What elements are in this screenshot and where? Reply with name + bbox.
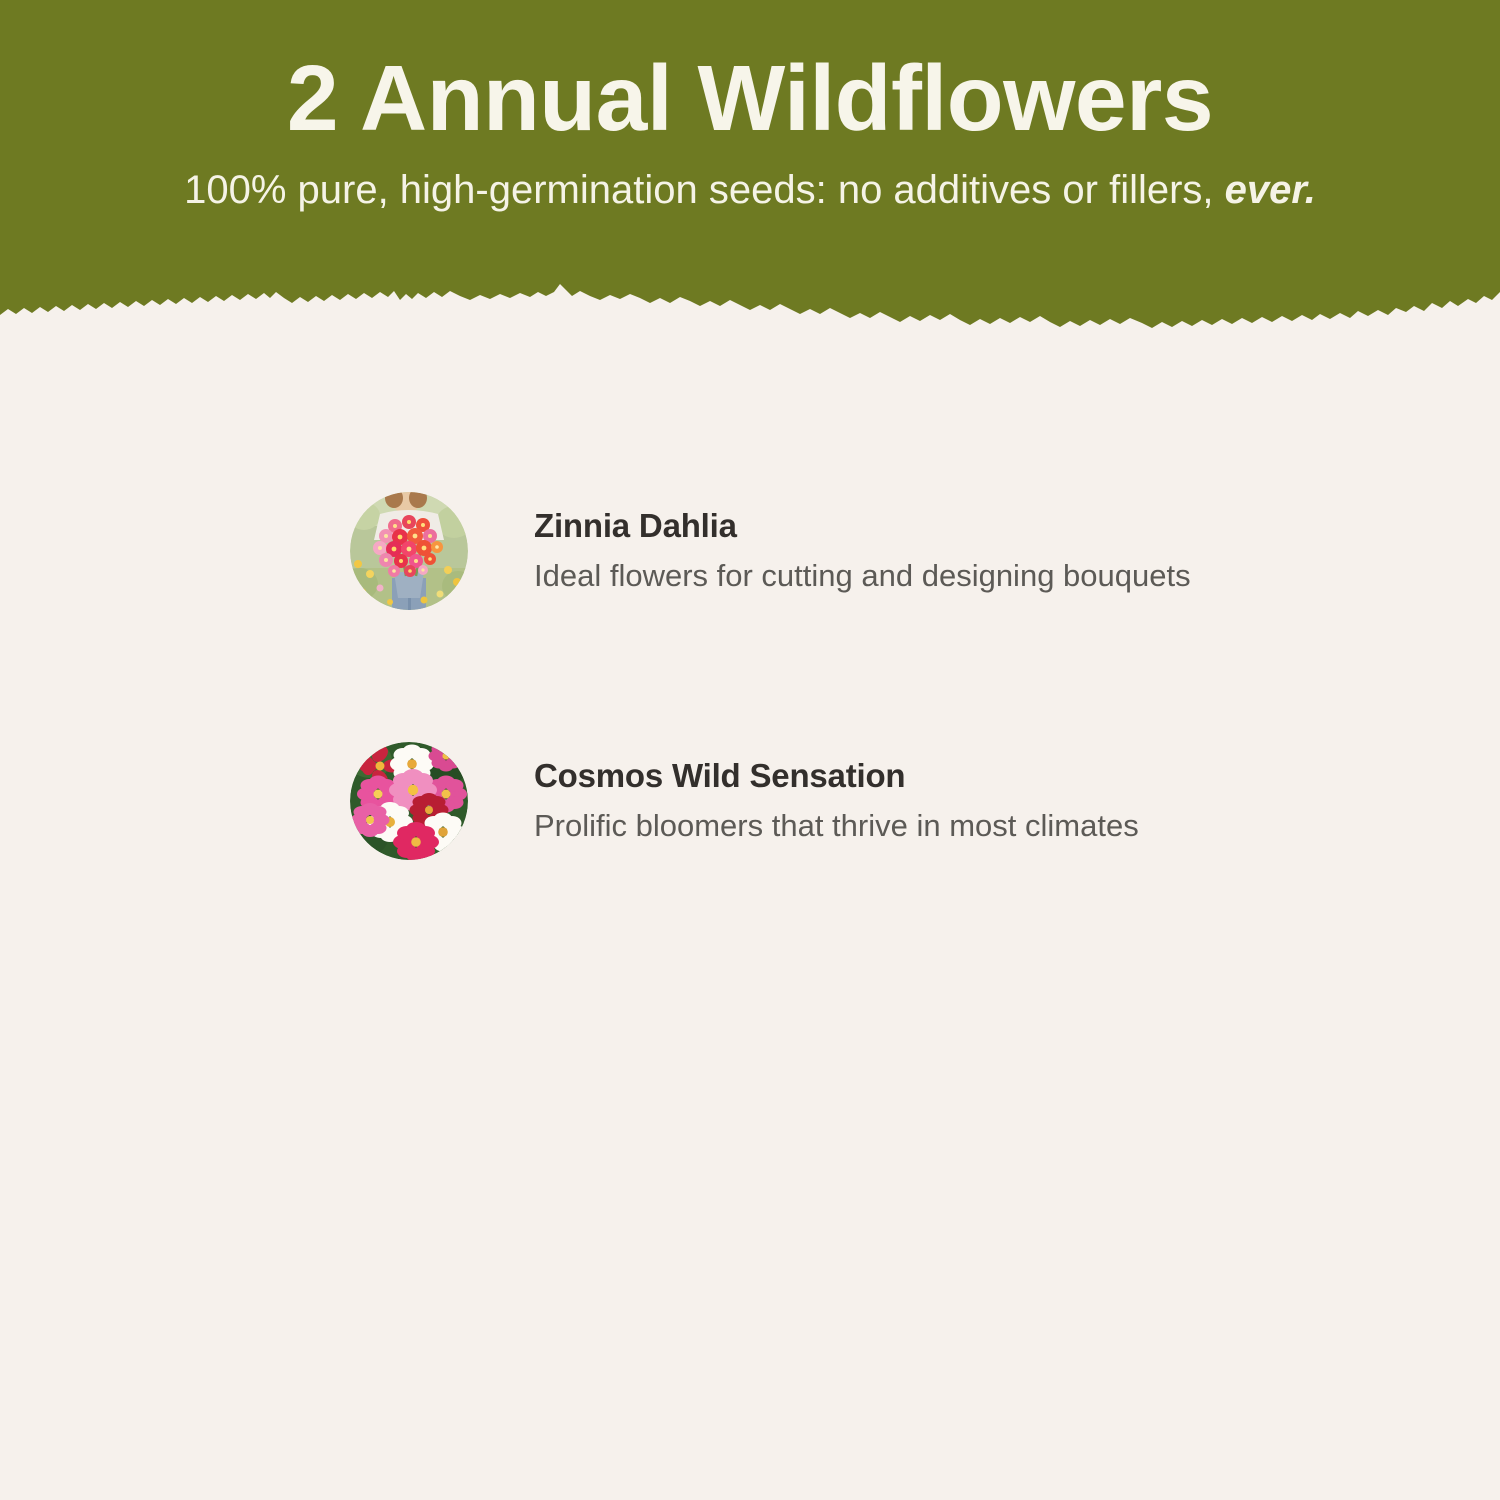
page-subtitle: 100% pure, high-germination seeds: no ad… (0, 170, 1500, 210)
feature-description: Prolific bloomers that thrive in most cl… (534, 807, 1139, 844)
page-title: 2 Annual Wildflowers (0, 52, 1500, 145)
feature-list: Zinnia Dahlia Ideal flowers for cutting … (350, 492, 1250, 992)
feature-item-cosmos-wild-sensation: Cosmos Wild Sensation Prolific bloomers … (350, 742, 1250, 860)
zinnia-bouquet-image (350, 492, 468, 610)
feature-description: Ideal flowers for cutting and designing … (534, 557, 1191, 594)
zinnia-bouquet-thumbnail (350, 492, 468, 610)
header-content: 2 Annual Wildflowers 100% pure, high-ger… (0, 0, 1500, 300)
feature-title: Zinnia Dahlia (534, 506, 1191, 546)
cosmos-flowers-image (350, 742, 468, 860)
header-band: 2 Annual Wildflowers 100% pure, high-ger… (0, 0, 1500, 330)
feature-title: Cosmos Wild Sensation (534, 756, 1139, 796)
cosmos-flowers-thumbnail (350, 742, 468, 860)
feature-item-zinnia-dahlia: Zinnia Dahlia Ideal flowers for cutting … (350, 492, 1250, 610)
feature-text-block: Cosmos Wild Sensation Prolific bloomers … (468, 742, 1139, 844)
subtitle-emphasis: ever. (1225, 168, 1316, 212)
feature-text-block: Zinnia Dahlia Ideal flowers for cutting … (468, 492, 1191, 594)
subtitle-prefix: 100% pure, high-germination seeds: no ad… (184, 168, 1225, 212)
